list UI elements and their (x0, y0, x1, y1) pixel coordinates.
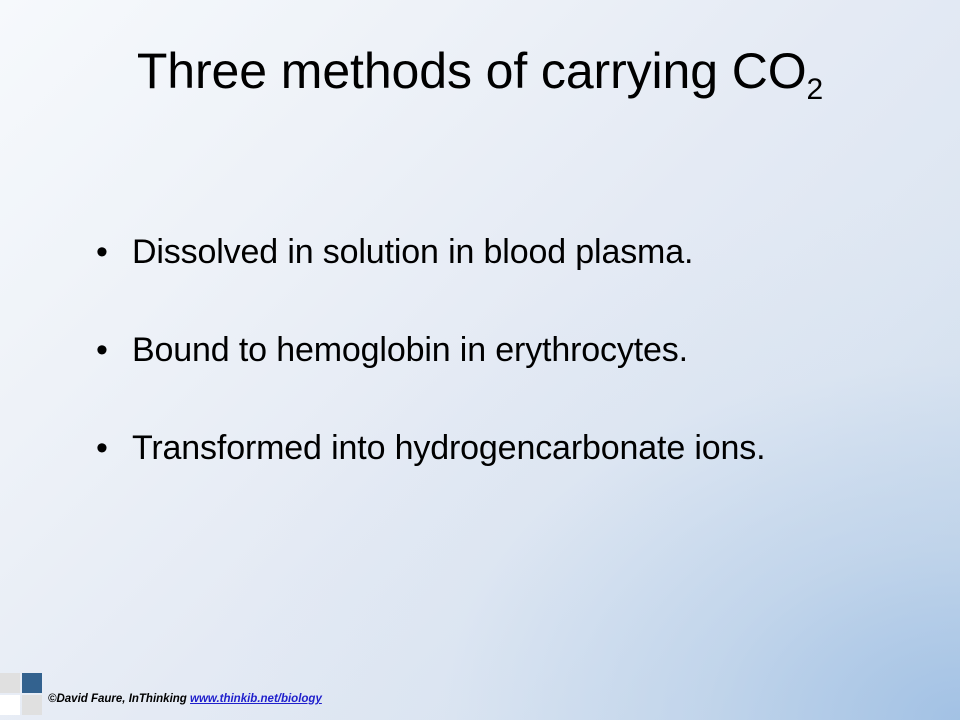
bullet-text: Dissolved in solution in blood plasma. (132, 228, 916, 276)
presentation-slide: Three methods of carrying CO2 • Dissolve… (0, 0, 960, 720)
list-item: • Dissolved in solution in blood plasma. (96, 228, 916, 276)
logo-square-top-right (22, 673, 42, 693)
slide-title-text: Three methods of carrying CO (137, 43, 807, 99)
bullet-marker-icon: • (96, 326, 132, 374)
bullet-text: Bound to hemoglobin in erythrocytes. (132, 326, 916, 374)
bullet-text: Transformed into hydrogencarbonate ions. (132, 424, 916, 472)
list-item: • Bound to hemoglobin in erythrocytes. (96, 326, 916, 374)
footer-website-link[interactable]: www.thinkib.net/biology (190, 693, 322, 705)
list-item: • Transformed into hydrogencarbonate ion… (96, 424, 916, 472)
bullet-marker-icon: • (96, 228, 132, 276)
logo-square-top-left (0, 673, 20, 693)
slide-title: Three methods of carrying CO2 (60, 44, 900, 99)
bullet-list: • Dissolved in solution in blood plasma.… (96, 228, 916, 472)
inthinking-logo-icon (0, 673, 44, 717)
logo-square-bottom-right (22, 695, 42, 715)
slide-footer: ©David Faure, InThinking www.thinkib.net… (0, 670, 960, 720)
logo-square-bottom-left (0, 695, 20, 715)
footer-copyright-text: ©David Faure, InThinking (48, 693, 187, 705)
footer-attribution: ©David Faure, InThinking www.thinkib.net… (48, 692, 322, 706)
slide-title-subscript: 2 (807, 73, 824, 106)
bullet-marker-icon: • (96, 424, 132, 472)
